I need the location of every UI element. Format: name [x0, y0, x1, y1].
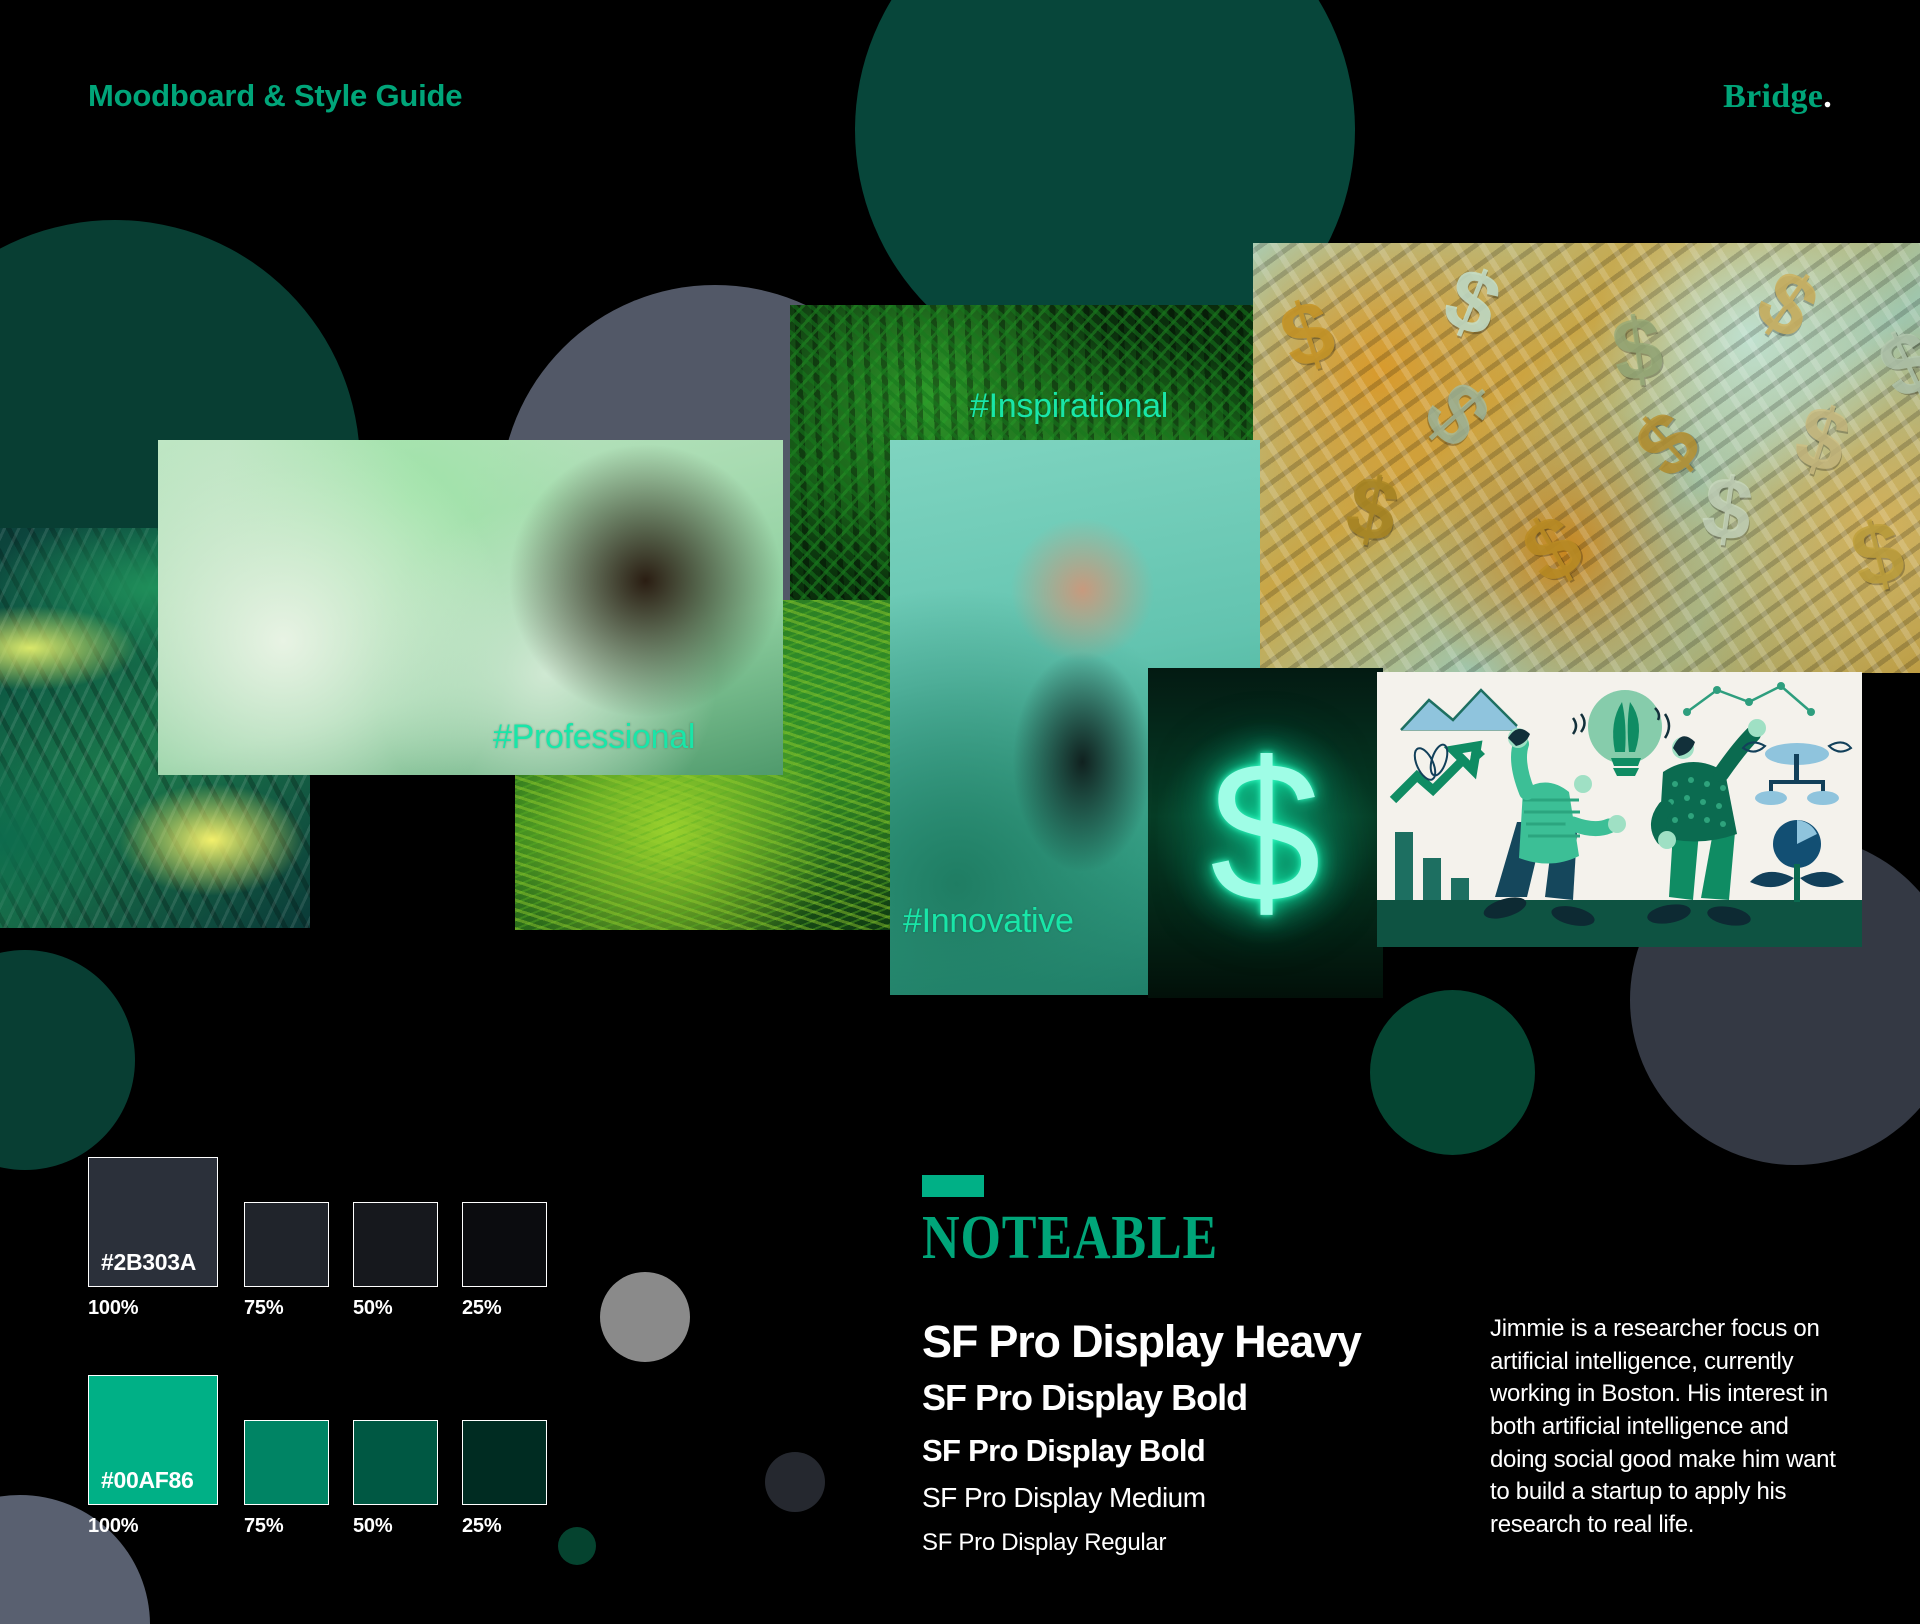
swatch-dark-75: [244, 1202, 329, 1287]
swatch-green-100: #00AF86: [88, 1375, 218, 1505]
swatch-pct-dark-100: 100%: [88, 1297, 138, 1320]
dollar-glyph: $: [1431, 246, 1515, 359]
body-copy-paragraph: Jimmie is a researcher focus on artifici…: [1490, 1313, 1850, 1541]
dollar-glyph: $: [1403, 362, 1512, 467]
circle-green-right: [1370, 990, 1535, 1155]
swatch-pct-green-25: 25%: [462, 1515, 501, 1538]
tile-gold-dollars: $ $ $ $ $ $ $ $ $ $ $ $: [1253, 243, 1920, 673]
swatch-green-25: [462, 1420, 547, 1505]
circle-green-small: [558, 1527, 596, 1565]
dollar-glyph: $: [1864, 307, 1920, 420]
swatch-green-50: [353, 1420, 438, 1505]
team-growth-illustration-svg: [1377, 672, 1862, 947]
typography-accent-bar: [922, 1175, 984, 1197]
swatch-dark-100: #2B303A: [88, 1157, 218, 1287]
swatch-pct-green-75: 75%: [244, 1515, 283, 1538]
type-specimen-bold-large: SF Pro Display Bold: [922, 1377, 1247, 1419]
typography-display-name: NOTEABLE: [922, 1203, 1218, 1274]
swatch-green-75: [244, 1420, 329, 1505]
swatch-dark-25: [462, 1202, 547, 1287]
dollar-glyph: $: [1615, 390, 1720, 499]
type-specimen-regular: SF Pro Display Regular: [922, 1529, 1166, 1557]
moodboard-page: Moodboard & Style Guide Bridge. #Inspira…: [0, 0, 1920, 1624]
dollar-glyph: $: [1606, 295, 1669, 403]
dollar-glyph: $: [1338, 454, 1407, 564]
swatch-pct-green-50: 50%: [353, 1515, 392, 1538]
caption-professional: #Professional: [493, 718, 695, 757]
dollar-glyph: $: [1783, 383, 1861, 495]
neon-dollar-sign: $: [1210, 733, 1321, 933]
circle-dark-small: [765, 1452, 825, 1512]
circle-gray-small: [600, 1272, 690, 1362]
caption-inspirational: #Inspirational: [970, 387, 1168, 426]
tile-lab-researchers: #Professional: [158, 440, 783, 775]
swatch-pct-dark-25: 25%: [462, 1297, 501, 1320]
brand-logo-text: Bridge: [1723, 78, 1823, 115]
gold-dollar-glyph-group: $ $ $ $ $ $ $ $ $ $ $ $: [1253, 243, 1920, 673]
type-specimen-bold: SF Pro Display Bold: [922, 1433, 1205, 1469]
swatch-hex-label: #2B303A: [101, 1249, 196, 1276]
caption-innovative: #Innovative: [903, 902, 1074, 941]
dollar-glyph: $: [1841, 499, 1913, 610]
swatch-hex-label: #00AF86: [101, 1467, 194, 1494]
tile-neon-dollar: $: [1148, 668, 1383, 998]
type-specimen-heavy: SF Pro Display Heavy: [922, 1316, 1361, 1368]
dollar-glyph: $: [1738, 248, 1837, 360]
brand-logo-dot: .: [1823, 78, 1832, 115]
swatch-pct-dark-75: 75%: [244, 1297, 283, 1320]
dollar-glyph: $: [1506, 493, 1599, 606]
swatch-pct-dark-50: 50%: [353, 1297, 392, 1320]
swatch-dark-50: [353, 1202, 438, 1287]
page-title: Moodboard & Style Guide: [88, 78, 462, 114]
type-specimen-medium: SF Pro Display Medium: [922, 1482, 1206, 1514]
dollar-glyph: $: [1268, 278, 1346, 390]
circle-green-lower-left: [0, 950, 135, 1170]
brand-logo: Bridge.: [1723, 78, 1832, 116]
swatch-pct-green-100: 100%: [88, 1515, 138, 1538]
tile-team-illustration: [1377, 672, 1862, 947]
